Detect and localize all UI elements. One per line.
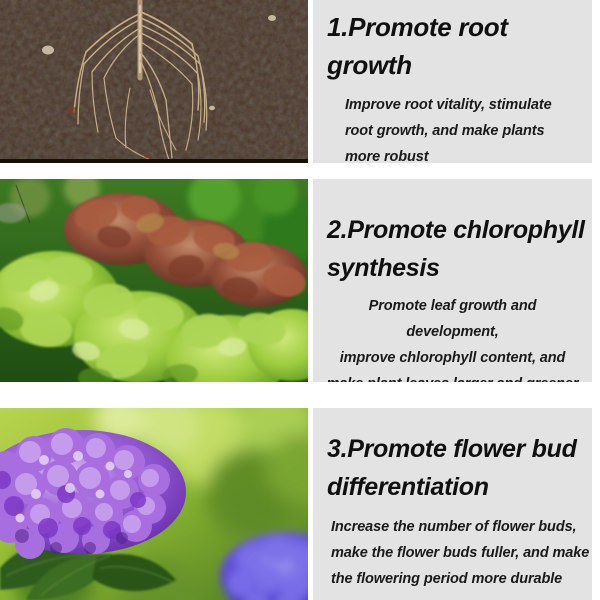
feature-row-2: 2.Promote chlorophyll synthesis Promote … <box>0 179 600 382</box>
feature-text-panel-3: 3.Promote flower bud differentiation Inc… <box>313 408 592 600</box>
feature-body-2: Promote leaf growth and development, imp… <box>313 287 592 382</box>
feature-body-1: Improve root vitality, stimulate root gr… <box>313 84 592 163</box>
feature-heading-1: 1.Promote root growth <box>313 0 592 84</box>
lettuce-garden-photo <box>0 179 308 382</box>
purple-hydrangea-photo <box>0 408 308 600</box>
feature-heading-2: 2.Promote chlorophyll synthesis <box>313 179 592 287</box>
benefits-infographic: 1.Promote root growth Improve root vital… <box>0 0 600 600</box>
feature-text-panel-1: 1.Promote root growth Improve root vital… <box>313 0 592 163</box>
feature-heading-3: 3.Promote flower bud differentiation <box>313 408 592 506</box>
plant-roots-in-soil-photo <box>0 0 308 163</box>
feature-body-3: Increase the number of flower buds, make… <box>313 506 592 592</box>
feature-row-3: 3.Promote flower bud differentiation Inc… <box>0 408 600 600</box>
feature-text-panel-2: 2.Promote chlorophyll synthesis Promote … <box>313 179 592 382</box>
feature-row-1: 1.Promote root growth Improve root vital… <box>0 0 600 163</box>
